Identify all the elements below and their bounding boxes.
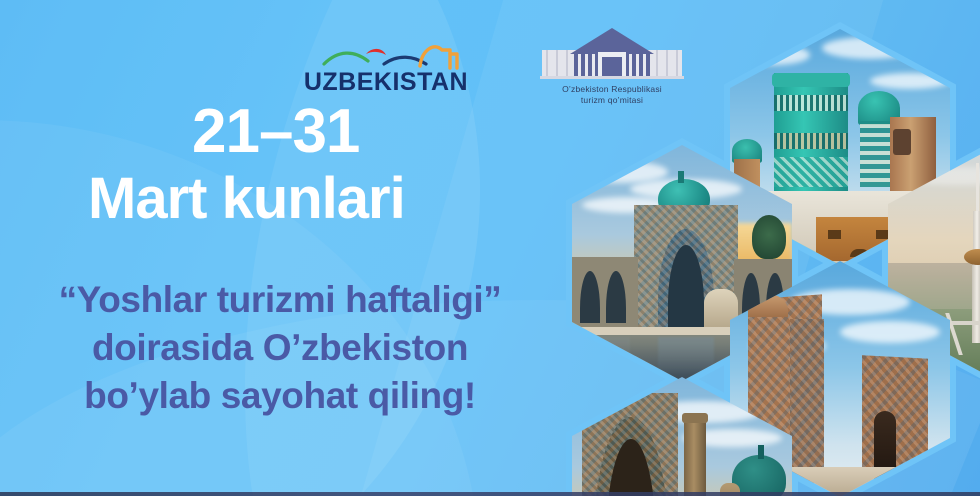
subheadline-line-1: “Yoshlar turizmi haftaligi”: [0, 276, 560, 324]
date-range-heading: 21–31: [192, 100, 560, 164]
emblem-caption-line-1: O’zbekiston Respublikasi: [528, 84, 696, 95]
hexagon-photo-collage: [0, 0, 980, 496]
month-heading: Mart kunlari: [88, 168, 560, 230]
svg-text:UZBEKISTAN: UZBEKISTAN: [304, 68, 468, 96]
subheadline-block: “Yoshlar turizmi haftaligi” doirasida O’…: [0, 276, 560, 420]
promo-banner: UZBEKISTAN: [0, 0, 980, 496]
bottom-edge-strip: [0, 492, 980, 496]
subheadline-line-3: bo’ylab sayohat qiling!: [0, 372, 560, 420]
committee-building-icon: [528, 24, 696, 82]
subheadline-line-2: doirasida O’zbekiston: [0, 324, 560, 372]
uzbekistan-brand-logo: UZBEKISTAN: [302, 34, 470, 98]
headline-block: 21–31 Mart kunlari: [0, 100, 560, 230]
